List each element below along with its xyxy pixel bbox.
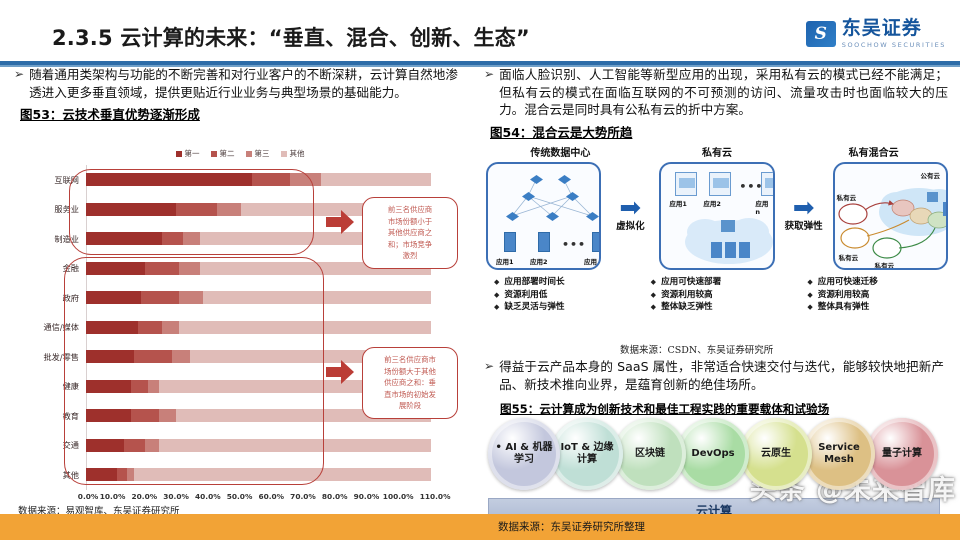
stage-box-hybrid-cloud: 公有云	[833, 162, 948, 270]
chart-x-tick: 70.0%	[290, 492, 316, 501]
app-label: 应用n	[584, 256, 599, 270]
callout-line: 激烈	[370, 250, 450, 262]
chart-category-label: 交通	[14, 439, 86, 451]
chart-x-tick: 0.0%	[78, 492, 99, 501]
chart-plot-area: 互联网服务业制造业金融政府通信/媒体批发/零售健康教育交通其他 前三名供应商 市…	[14, 165, 466, 490]
left-column: ➢ 随着通用类架构与功能的不断完善和对行业客户的不断深耕，云计算自然地渗透进入更…	[0, 66, 470, 540]
right-paragraph-1-text: 面临人脸识别、人工智能等新型应用的出现，采用私有云的模式已经不能满足；但私有云的…	[499, 66, 948, 119]
technology-circle[interactable]: IoT & 边缘计算	[551, 418, 623, 490]
brand-logo: 东吴证券 SOOCHOW SECURITIES	[806, 19, 946, 49]
left-bullet-paragraph: ➢ 随着通用类架构与功能的不断完善和对行业客户的不断深耕，云计算自然地渗透进入更…	[0, 66, 470, 101]
chart-x-tick: 90.0%	[354, 492, 380, 501]
chart-x-tick: 10.0%	[100, 492, 126, 501]
legend-swatch	[211, 151, 217, 157]
bullet-item: ◆ 应用可快速部署	[651, 276, 796, 289]
chart-bar-segment	[162, 321, 179, 334]
technology-circle-label: 云原生	[756, 448, 796, 460]
ellipsis-dots: •••	[562, 238, 586, 251]
chart-category-label: 金融	[14, 262, 86, 274]
technology-circle-label: IoT & 边缘计算	[551, 442, 623, 466]
chart-bar-row: 通信/媒体	[14, 313, 466, 343]
technology-circle[interactable]: 量子计算	[866, 418, 938, 490]
chart-category-label: 互联网	[14, 174, 86, 186]
callout-arrow-icon-2	[326, 359, 354, 385]
bullet-item: ◆ 缺乏灵活与弹性	[494, 301, 639, 314]
chart-bar-track	[86, 291, 466, 304]
chart-bar-segment	[86, 350, 134, 363]
legend-swatch	[176, 151, 182, 157]
chart-bar-row: 其他	[14, 460, 466, 490]
bullet-text: 资源利用较高	[818, 289, 870, 302]
chart-category-label: 制造业	[14, 233, 86, 245]
slide-footer: 数据来源：东吴证券研究所整理	[0, 514, 960, 540]
right-column: ➢ 面临人脸识别、人工智能等新型应用的出现，采用私有云的模式已经不能满足；但私有…	[470, 66, 960, 540]
right-bullet-paragraph-1: ➢ 面临人脸识别、人工智能等新型应用的出现，采用私有云的模式已经不能满足；但私有…	[470, 66, 960, 119]
diamond-icon: ◆	[494, 301, 499, 314]
callout-line: 直市场的初始发	[370, 389, 450, 401]
chart-bar-segment	[179, 321, 431, 334]
bullet-arrow-icon: ➢	[484, 66, 494, 119]
chart-bar-segment	[134, 350, 172, 363]
chart-bar-segment	[86, 173, 252, 186]
page-title: 2.3.5 云计算的未来：“垂直、混合、创新、生态”	[52, 22, 530, 52]
figure-55-caption: 图55：云计算成为创新技术和最佳工程实践的重要载体和试验场	[480, 401, 829, 417]
chart-bar-segment	[131, 409, 159, 422]
bullet-arrow-icon: ➢	[14, 66, 24, 101]
diamond-icon: ◆	[494, 289, 499, 302]
bullet-text: 应用部署时间长	[504, 276, 564, 289]
figure-54-diagram: 传统数据中心 私有云 私有混合云	[482, 144, 952, 344]
connector-elasticity: ➡ 获取弹性	[777, 200, 831, 232]
chart-x-tick: 30.0%	[163, 492, 189, 501]
diagram54-stages: ••• 应用1 应用2 应用n ➡ 虚拟化	[482, 160, 952, 272]
technology-circle-label: 区块链	[630, 448, 670, 460]
chart-bar-segment	[86, 291, 141, 304]
callout-line: 前三名供应商市	[370, 354, 450, 366]
stage-box-traditional-datacenter: ••• 应用1 应用2 应用n	[486, 162, 601, 270]
legend-item: 其他	[281, 148, 305, 159]
chart-bar-segment	[179, 262, 200, 275]
chart-bar-segment	[290, 173, 321, 186]
callout-line: 场份额大于其他	[370, 366, 450, 378]
chart-bar-segment	[86, 439, 124, 452]
bullet-text: 资源利用较高	[661, 289, 713, 302]
figure-54-caption: 图54：混合云是大势所趋	[470, 122, 960, 141]
bullet-text: 缺乏灵活与弹性	[504, 301, 564, 314]
chart-category-label: 批发/零售	[14, 351, 86, 363]
bullet-column-3: ◆ 应用可快速迁移 ◆ 资源利用较高 ◆ 整体具有弹性	[795, 276, 952, 314]
right-paragraph-2-text: 得益于云产品本身的 SaaS 属性，非常适合快速交付与迭代，能够较快地把新产品、…	[499, 358, 944, 393]
connector-virtualization: ➡ 虚拟化	[603, 200, 657, 232]
chart-category-label: 其他	[14, 469, 86, 481]
chart-bar-segment	[86, 232, 162, 245]
bullet-text: 资源利用低	[504, 289, 547, 302]
bullet-text: 整体具有弹性	[818, 301, 870, 314]
bullet-item: ◆ 应用部署时间长	[494, 276, 639, 289]
chart-bar-segment	[131, 380, 148, 393]
legend-item: 第三	[246, 148, 270, 159]
technology-circle-label: • AI & 机器学习	[488, 442, 560, 466]
chart-bar-segment	[86, 468, 117, 481]
callout-line: 前三名供应商	[370, 204, 450, 216]
chart-bar-segment	[145, 439, 159, 452]
chart-bar-segment	[203, 291, 431, 304]
chart-bar-segment	[86, 262, 145, 275]
chart-bar-segment	[117, 468, 127, 481]
chart-bar-segment	[183, 232, 200, 245]
private-cloud-graphic: ••• 应用1 应用2 应用n	[661, 164, 772, 268]
diamond-icon: ◆	[807, 276, 812, 289]
legend-label: 第一	[185, 148, 200, 159]
chart-bar-segment	[162, 232, 183, 245]
stage-title-1: 传统数据中心	[482, 144, 639, 160]
slide-header: 2.3.5 云计算的未来：“垂直、混合、创新、生态” 东吴证券 SOOCHOW …	[0, 0, 960, 62]
logo-text-cn: 东吴证券	[842, 19, 946, 38]
chart-x-tick: 110.0%	[420, 492, 451, 501]
bullet-item: ◆ 整体具有弹性	[807, 301, 952, 314]
diamond-icon: ◆	[651, 289, 656, 302]
footer-source-text: 数据来源：东吴证券研究所整理	[498, 519, 645, 534]
figure-53-chart: 第一 第二 第三 其他 互联网服务业制造业金融政府通信/媒体批发/零售	[14, 146, 466, 540]
chart-bar-segment	[217, 203, 241, 216]
bullet-item: ◆ 整体缺乏弹性	[651, 301, 796, 314]
logo-mark-icon	[806, 21, 836, 47]
chart-bar-row: 交通	[14, 431, 466, 461]
bullet-item: ◆ 资源利用较高	[807, 289, 952, 302]
callout-line: 市场份额小于	[370, 216, 450, 228]
stage-title-2: 私有云	[639, 144, 796, 160]
legend-item: 第二	[211, 148, 235, 159]
legend-swatch	[246, 151, 252, 157]
chart-x-tick: 100.0%	[383, 492, 414, 501]
private-cloud-label: 私有云	[875, 260, 895, 270]
chart-x-tick: 40.0%	[195, 492, 221, 501]
bullet-arrow-icon: ➢	[484, 358, 494, 393]
app-label: 应用2	[530, 256, 548, 266]
chart-bar-segment	[138, 321, 162, 334]
bullet-column-1: ◆ 应用部署时间长 ◆ 资源利用低 ◆ 缺乏灵活与弹性	[482, 276, 639, 314]
diagram54-titles: 传统数据中心 私有云 私有混合云	[482, 144, 952, 160]
connector-label: 获取弹性	[777, 218, 831, 232]
chart-legend: 第一 第二 第三 其他	[14, 148, 466, 159]
technology-circle[interactable]: • AI & 机器学习	[488, 418, 560, 490]
chart-bar-track	[86, 439, 466, 452]
chart-category-label: 通信/媒体	[14, 321, 86, 333]
chart-bar-segment	[127, 468, 134, 481]
technology-circle[interactable]: 云原生	[740, 418, 812, 490]
technology-circle-label: Service Mesh	[803, 442, 875, 466]
legend-label: 第三	[255, 148, 270, 159]
legend-swatch	[281, 151, 287, 157]
technology-circle[interactable]: 区块链	[614, 418, 686, 490]
callout-line: 和；市场竞争	[370, 239, 450, 251]
callout-line: 其他供应商之	[370, 227, 450, 239]
logo-text-en: SOOCHOW SECURITIES	[842, 41, 946, 49]
chart-bar-track	[86, 173, 466, 186]
chart-x-axis-ticks: 0.0%10.0%20.0%30.0%40.0%50.0%60.0%70.0%8…	[86, 492, 466, 501]
stage-box-private-cloud: ••• 应用1 应用2 应用n	[659, 162, 774, 270]
technology-circle-label: 量子计算	[877, 448, 927, 460]
bullet-text: 应用可快速迁移	[818, 276, 878, 289]
chart-x-tick: 60.0%	[258, 492, 284, 501]
callout-line: 供应商之和：垂	[370, 377, 450, 389]
legend-label: 第二	[220, 148, 235, 159]
app-label: 应用1	[496, 256, 514, 266]
chart-bar-segment	[159, 439, 432, 452]
bullet-item: ◆ 资源利用较高	[651, 289, 796, 302]
legend-item: 第一	[176, 148, 200, 159]
chart-category-label: 教育	[14, 410, 86, 422]
chart-bar-segment	[145, 262, 180, 275]
bullet-column-2: ◆ 应用可快速部署 ◆ 资源利用较高 ◆ 整体缺乏弹性	[639, 276, 796, 314]
chart-bar-segment	[321, 173, 432, 186]
technology-circle[interactable]: Service Mesh	[803, 418, 875, 490]
figure-54-source: 数据来源：CSDN、东吴证券研究所	[620, 342, 773, 356]
diamond-icon: ◆	[807, 301, 812, 314]
arrow-right-icon: ➡	[603, 200, 657, 216]
callout-line: 展阶段	[370, 400, 450, 412]
chart-category-label: 健康	[14, 380, 86, 392]
diamond-icon: ◆	[651, 276, 656, 289]
chart-bar-segment	[176, 203, 217, 216]
chart-bar-segment	[159, 409, 176, 422]
right-bullet-paragraph-2: ➢ 得益于云产品本身的 SaaS 属性，非常适合快速交付与迭代，能够较快地把新产…	[470, 358, 956, 393]
left-paragraph-text: 随着通用类架构与功能的不断完善和对行业客户的不断深耕，云计算自然地渗透进入更多垂…	[29, 66, 458, 101]
chart-bar-segment	[86, 321, 138, 334]
chart-callout-1: 前三名供应商 市场份额小于 其他供应商之 和；市场竞争 激烈	[362, 197, 458, 269]
bullet-text: 应用可快速部署	[661, 276, 721, 289]
hybrid-cloud-graphic: 公有云	[835, 164, 946, 268]
chart-bar-segment	[141, 291, 179, 304]
chart-category-label: 政府	[14, 292, 86, 304]
diamond-icon: ◆	[494, 276, 499, 289]
arrow-right-icon: ➡	[777, 200, 831, 216]
chart-bar-segment	[86, 380, 131, 393]
chart-bar-row: 政府	[14, 283, 466, 313]
diagram54-bullet-columns: ◆ 应用部署时间长 ◆ 资源利用低 ◆ 缺乏灵活与弹性 ◆ 应用	[482, 276, 952, 314]
diamond-icon: ◆	[807, 289, 812, 302]
chart-category-label: 服务业	[14, 203, 86, 215]
chart-bar-segment	[172, 350, 189, 363]
technology-circle[interactable]: DevOps	[677, 418, 749, 490]
figure-53-caption: 图53：云技术垂直优势逐渐形成	[0, 104, 470, 123]
chart-x-tick: 50.0%	[227, 492, 253, 501]
legend-label: 其他	[290, 148, 305, 159]
bullet-item: ◆ 资源利用低	[494, 289, 639, 302]
chart-bar-segment	[179, 291, 203, 304]
chart-bar-track	[86, 321, 466, 334]
chart-bar-track	[86, 468, 466, 481]
technology-circles: • AI & 机器学习IoT & 边缘计算区块链DevOps云原生Service…	[482, 418, 954, 500]
technology-circle-label: DevOps	[686, 448, 739, 460]
connector-label: 虚拟化	[603, 218, 657, 232]
private-cloud-label: 私有云	[837, 192, 857, 202]
chart-x-tick: 80.0%	[322, 492, 348, 501]
chart-bar-segment	[124, 439, 145, 452]
chart-callout-2: 前三名供应商市 场份额大于其他 供应商之和：垂 直市场的初始发 展阶段	[362, 347, 458, 419]
diamond-icon: ◆	[651, 301, 656, 314]
network-topology-graphic: ••• 应用1 应用2 应用n	[488, 164, 599, 268]
private-cloud-label: 私有云	[839, 252, 859, 262]
callout-arrow-icon-1	[326, 209, 354, 235]
slide-root: 2.3.5 云计算的未来：“垂直、混合、创新、生态” 东吴证券 SOOCHOW …	[0, 0, 960, 540]
chart-bar-row: 互联网	[14, 165, 466, 195]
chart-bar-segment	[86, 203, 176, 216]
bullet-item: ◆ 应用可快速迁移	[807, 276, 952, 289]
chart-bar-segment	[148, 380, 158, 393]
stage-title-3: 私有混合云	[795, 144, 952, 160]
chart-bar-segment	[86, 409, 131, 422]
chart-x-tick: 20.0%	[132, 492, 158, 501]
chart-bar-segment	[252, 173, 290, 186]
chart-bar-segment	[134, 468, 431, 481]
bullet-text: 整体缺乏弹性	[661, 301, 713, 314]
